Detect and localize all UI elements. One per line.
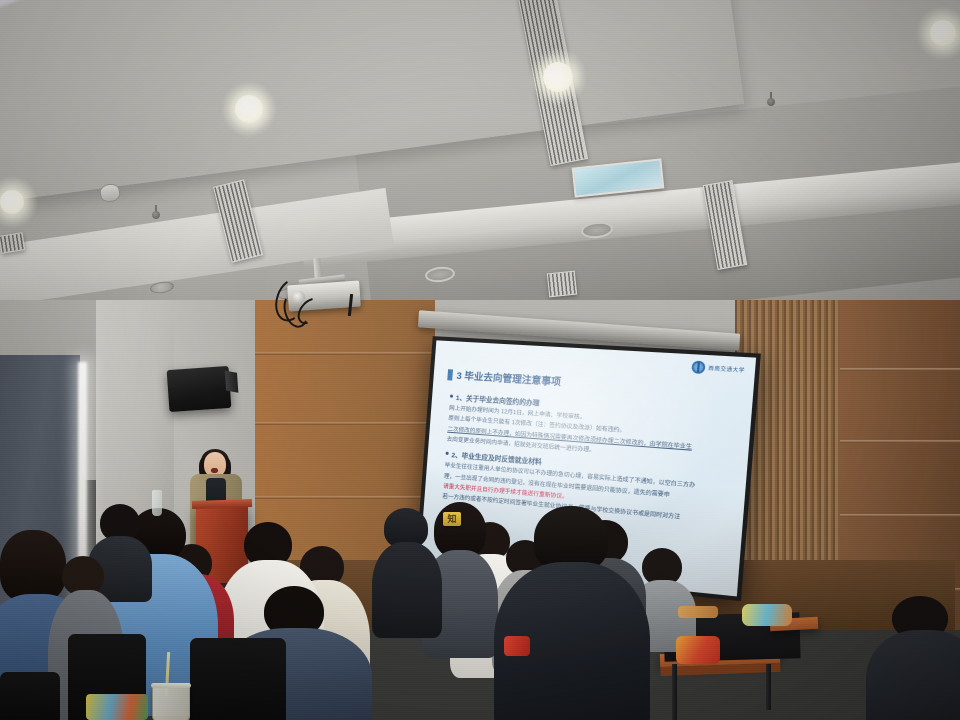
desk-leg <box>672 664 677 720</box>
chair <box>0 672 60 720</box>
slide-title: 3 毕业去向管理注意事项 <box>447 367 561 388</box>
water-bottle <box>152 490 162 516</box>
ceiling-downlight <box>0 190 24 214</box>
lecture-hall-photo: 西南交通大学 3 毕业去向管理注意事项 1、关于毕业去向签约的办理 网上开始办理… <box>0 0 960 720</box>
hvac-grille-icon <box>0 232 25 254</box>
list-item <box>876 596 960 720</box>
university-wordmark: 西南交通大学 <box>708 364 745 374</box>
snack-packet <box>86 694 148 720</box>
ceiling-downlight <box>543 62 573 92</box>
drink-cup <box>152 686 190 720</box>
ceiling-downlight <box>930 20 956 46</box>
hvac-grille-icon <box>547 271 577 298</box>
list-item <box>376 508 436 632</box>
desk-leg <box>766 664 771 710</box>
university-logo: 西南交通大学 <box>691 361 745 377</box>
chair <box>190 638 286 720</box>
slide-title-text: 3 毕业去向管理注意事项 <box>456 368 562 389</box>
snack-packet <box>678 606 718 618</box>
snack-packet <box>742 604 792 626</box>
title-accent-bar <box>447 369 453 380</box>
ceiling-downlight <box>235 95 263 123</box>
sprinkler-head-icon <box>766 92 776 108</box>
university-emblem-icon <box>691 361 705 374</box>
bullet-dot-icon <box>450 395 453 398</box>
wall-speaker <box>167 366 232 412</box>
sprinkler-head-icon <box>151 205 161 221</box>
hair-badge: 知 <box>443 512 461 526</box>
chips-bag <box>676 636 720 664</box>
bullet-dot-icon <box>446 452 449 455</box>
list-item <box>512 506 628 720</box>
snack-packet <box>504 636 530 656</box>
